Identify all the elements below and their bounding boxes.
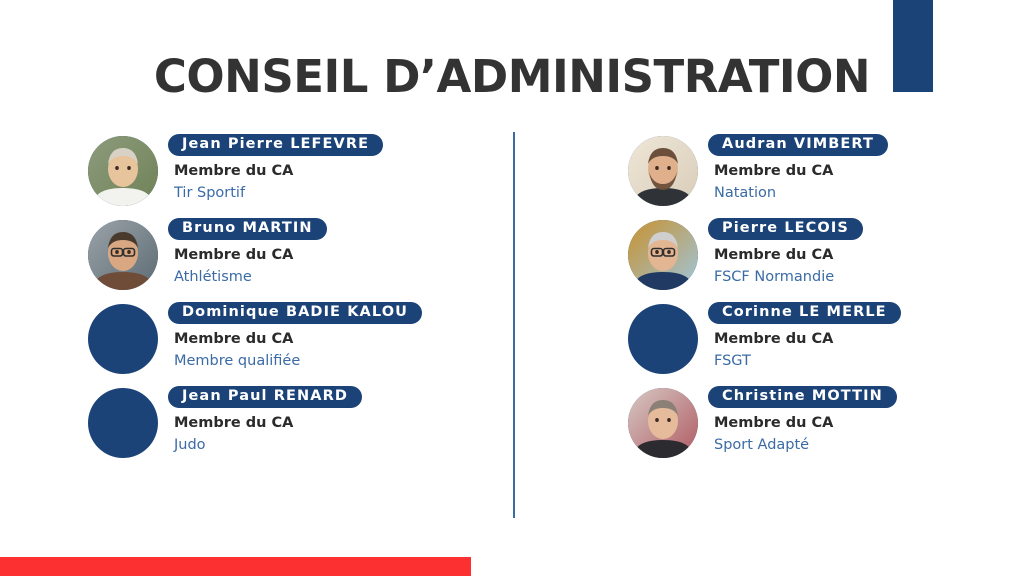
member-role-title: Membre du CA bbox=[174, 246, 327, 264]
avatar-placeholder bbox=[628, 304, 698, 374]
member-discipline: Membre qualifiée bbox=[174, 352, 422, 370]
member-discipline: FSCF Normandie bbox=[714, 268, 863, 286]
member-info: Dominique BADIE KALOUMembre du CAMembre … bbox=[168, 301, 422, 370]
member-name-pill: Dominique BADIE KALOU bbox=[168, 302, 422, 324]
avatar bbox=[628, 220, 698, 290]
avatar bbox=[88, 136, 158, 206]
member-entry: Dominique BADIE KALOUMembre du CAMembre … bbox=[88, 301, 508, 385]
avatar bbox=[628, 388, 698, 458]
member-name-pill: Christine MOTTIN bbox=[708, 386, 897, 408]
member-role-title: Membre du CA bbox=[174, 414, 362, 432]
member-discipline: Natation bbox=[714, 184, 888, 202]
member-entry: Corinne LE MERLEMembre du CAFSGT bbox=[628, 301, 1024, 385]
member-entry: Audran VIMBERTMembre du CANatation bbox=[628, 133, 1024, 217]
member-name-pill: Bruno MARTIN bbox=[168, 218, 327, 240]
member-role-title: Membre du CA bbox=[714, 330, 901, 348]
member-entry: Pierre LECOISMembre du CAFSCF Normandie bbox=[628, 217, 1024, 301]
avatar bbox=[628, 136, 698, 206]
members-area: Jean Pierre LEFEVREMembre du CATir Sport… bbox=[0, 0, 1024, 576]
member-role-title: Membre du CA bbox=[174, 330, 422, 348]
member-role-title: Membre du CA bbox=[714, 162, 888, 180]
avatar-placeholder bbox=[88, 388, 158, 458]
member-role-title: Membre du CA bbox=[174, 162, 383, 180]
member-name-pill: Jean Pierre LEFEVRE bbox=[168, 134, 383, 156]
member-name-pill: Corinne LE MERLE bbox=[708, 302, 901, 324]
member-info: Pierre LECOISMembre du CAFSCF Normandie bbox=[708, 217, 863, 286]
member-name-pill: Audran VIMBERT bbox=[708, 134, 888, 156]
member-entry: Jean Pierre LEFEVREMembre du CATir Sport… bbox=[88, 133, 508, 217]
member-name-pill: Pierre LECOIS bbox=[708, 218, 863, 240]
member-column-left: Jean Pierre LEFEVREMembre du CATir Sport… bbox=[88, 133, 508, 469]
member-info: Christine MOTTINMembre du CASport Adapté bbox=[708, 385, 897, 454]
member-discipline: Judo bbox=[174, 436, 362, 454]
member-column-right: Audran VIMBERTMembre du CANatation Pierr… bbox=[628, 133, 1024, 469]
member-info: Audran VIMBERTMembre du CANatation bbox=[708, 133, 888, 202]
member-entry: Bruno MARTINMembre du CAAthlétisme bbox=[88, 217, 508, 301]
avatar-placeholder bbox=[88, 304, 158, 374]
member-entry: Christine MOTTINMembre du CASport Adapté bbox=[628, 385, 1024, 469]
member-info: Jean Paul RENARDMembre du CAJudo bbox=[168, 385, 362, 454]
member-role-title: Membre du CA bbox=[714, 414, 897, 432]
member-info: Jean Pierre LEFEVREMembre du CATir Sport… bbox=[168, 133, 383, 202]
member-discipline: Tir Sportif bbox=[174, 184, 383, 202]
member-discipline: Sport Adapté bbox=[714, 436, 897, 454]
member-info: Corinne LE MERLEMembre du CAFSGT bbox=[708, 301, 901, 370]
member-info: Bruno MARTINMembre du CAAthlétisme bbox=[168, 217, 327, 286]
member-discipline: FSGT bbox=[714, 352, 901, 370]
member-discipline: Athlétisme bbox=[174, 268, 327, 286]
member-role-title: Membre du CA bbox=[714, 246, 863, 264]
avatar bbox=[88, 220, 158, 290]
member-name-pill: Jean Paul RENARD bbox=[168, 386, 362, 408]
member-entry: Jean Paul RENARDMembre du CAJudo bbox=[88, 385, 508, 469]
